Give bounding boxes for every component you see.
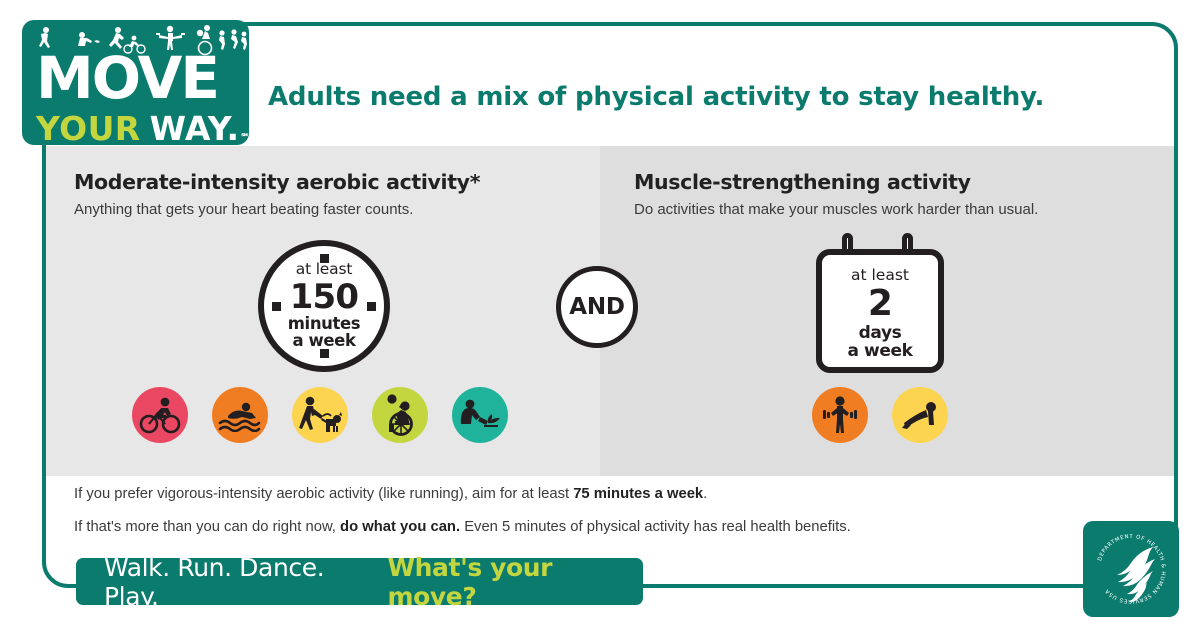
aerobic-badge-unit2: a week: [292, 333, 355, 350]
servicemark-symbol: ℠: [240, 132, 249, 145]
svg-text:MOVE: MOVE: [36, 48, 218, 106]
weight-lifting-icon: [812, 387, 868, 443]
swimming-icon: [212, 387, 268, 443]
note2-part-a: If that's more than you can do right now…: [74, 519, 340, 535]
calendar-badge-text: at least 2 days a week: [816, 255, 944, 373]
gardening-icon: [452, 387, 508, 443]
strength-badge-prefix: at least: [851, 268, 909, 284]
do-what-you-can-note: If that's more than you can do right now…: [74, 519, 851, 535]
note2-bold: do what you can.: [340, 519, 460, 535]
and-label: AND: [569, 294, 625, 320]
strength-frequency-badge: at least 2 days a week: [816, 233, 944, 373]
aerobic-subheading: Anything that gets your heart beating fa…: [74, 201, 413, 218]
tagline-plain: Walk. Run. Dance. Play.: [104, 553, 379, 611]
logo-way-text: WAY.: [150, 112, 240, 145]
and-connector: AND: [556, 266, 638, 348]
tagline-accent: What's your move?: [387, 553, 643, 611]
page-title: Adults need a mix of physical activity t…: [268, 82, 1044, 112]
dog-walking-icon: [292, 387, 348, 443]
strength-badge-amount: 2: [868, 286, 892, 322]
strength-badge-unit1: days: [859, 325, 902, 342]
hhs-seal: DEPARTMENT OF HEALTH & HUMAN SERVICES US…: [1083, 521, 1179, 617]
note1-bold: 75 minutes a week: [573, 486, 703, 502]
aerobic-heading: Moderate-intensity aerobic activity*: [74, 170, 480, 194]
vigorous-activity-note: If you prefer vigorous-intensity aerobic…: [74, 486, 707, 502]
note2-part-b: Even 5 minutes of physical activity has …: [460, 519, 851, 535]
note1-part-b: .: [703, 486, 707, 502]
bicycling-icon: [132, 387, 188, 443]
aerobic-duration-badge: at least 150 minutes a week: [258, 240, 390, 372]
aerobic-badge-amount: 150: [290, 280, 359, 314]
push-up-icon: [892, 387, 948, 443]
note1-part-a: If you prefer vigorous-intensity aerobic…: [74, 486, 573, 502]
strength-subheading: Do activities that make your muscles wor…: [634, 201, 1038, 218]
aerobic-badge-unit1: minutes: [288, 316, 360, 333]
logo-move-wordmark: MOVE: [36, 48, 236, 106]
move-your-way-logo: MOVE YOUR WAY. ℠: [22, 20, 249, 145]
tagline-bar: Walk. Run. Dance. Play. What's your move…: [76, 558, 643, 605]
wheelchair-basketball-icon: [372, 387, 428, 443]
clock-badge-text: at least 150 minutes a week: [258, 240, 390, 372]
strength-heading: Muscle-strengthening activity: [634, 170, 971, 194]
strength-badge-unit2: a week: [847, 343, 912, 360]
aerobic-badge-prefix: at least: [296, 262, 352, 278]
infographic-canvas: MOVE YOUR WAY. ℠ Adults need a mix of ph…: [0, 0, 1201, 631]
logo-tagline: YOUR WAY. ℠: [36, 112, 246, 145]
logo-your-text: YOUR: [36, 112, 141, 145]
